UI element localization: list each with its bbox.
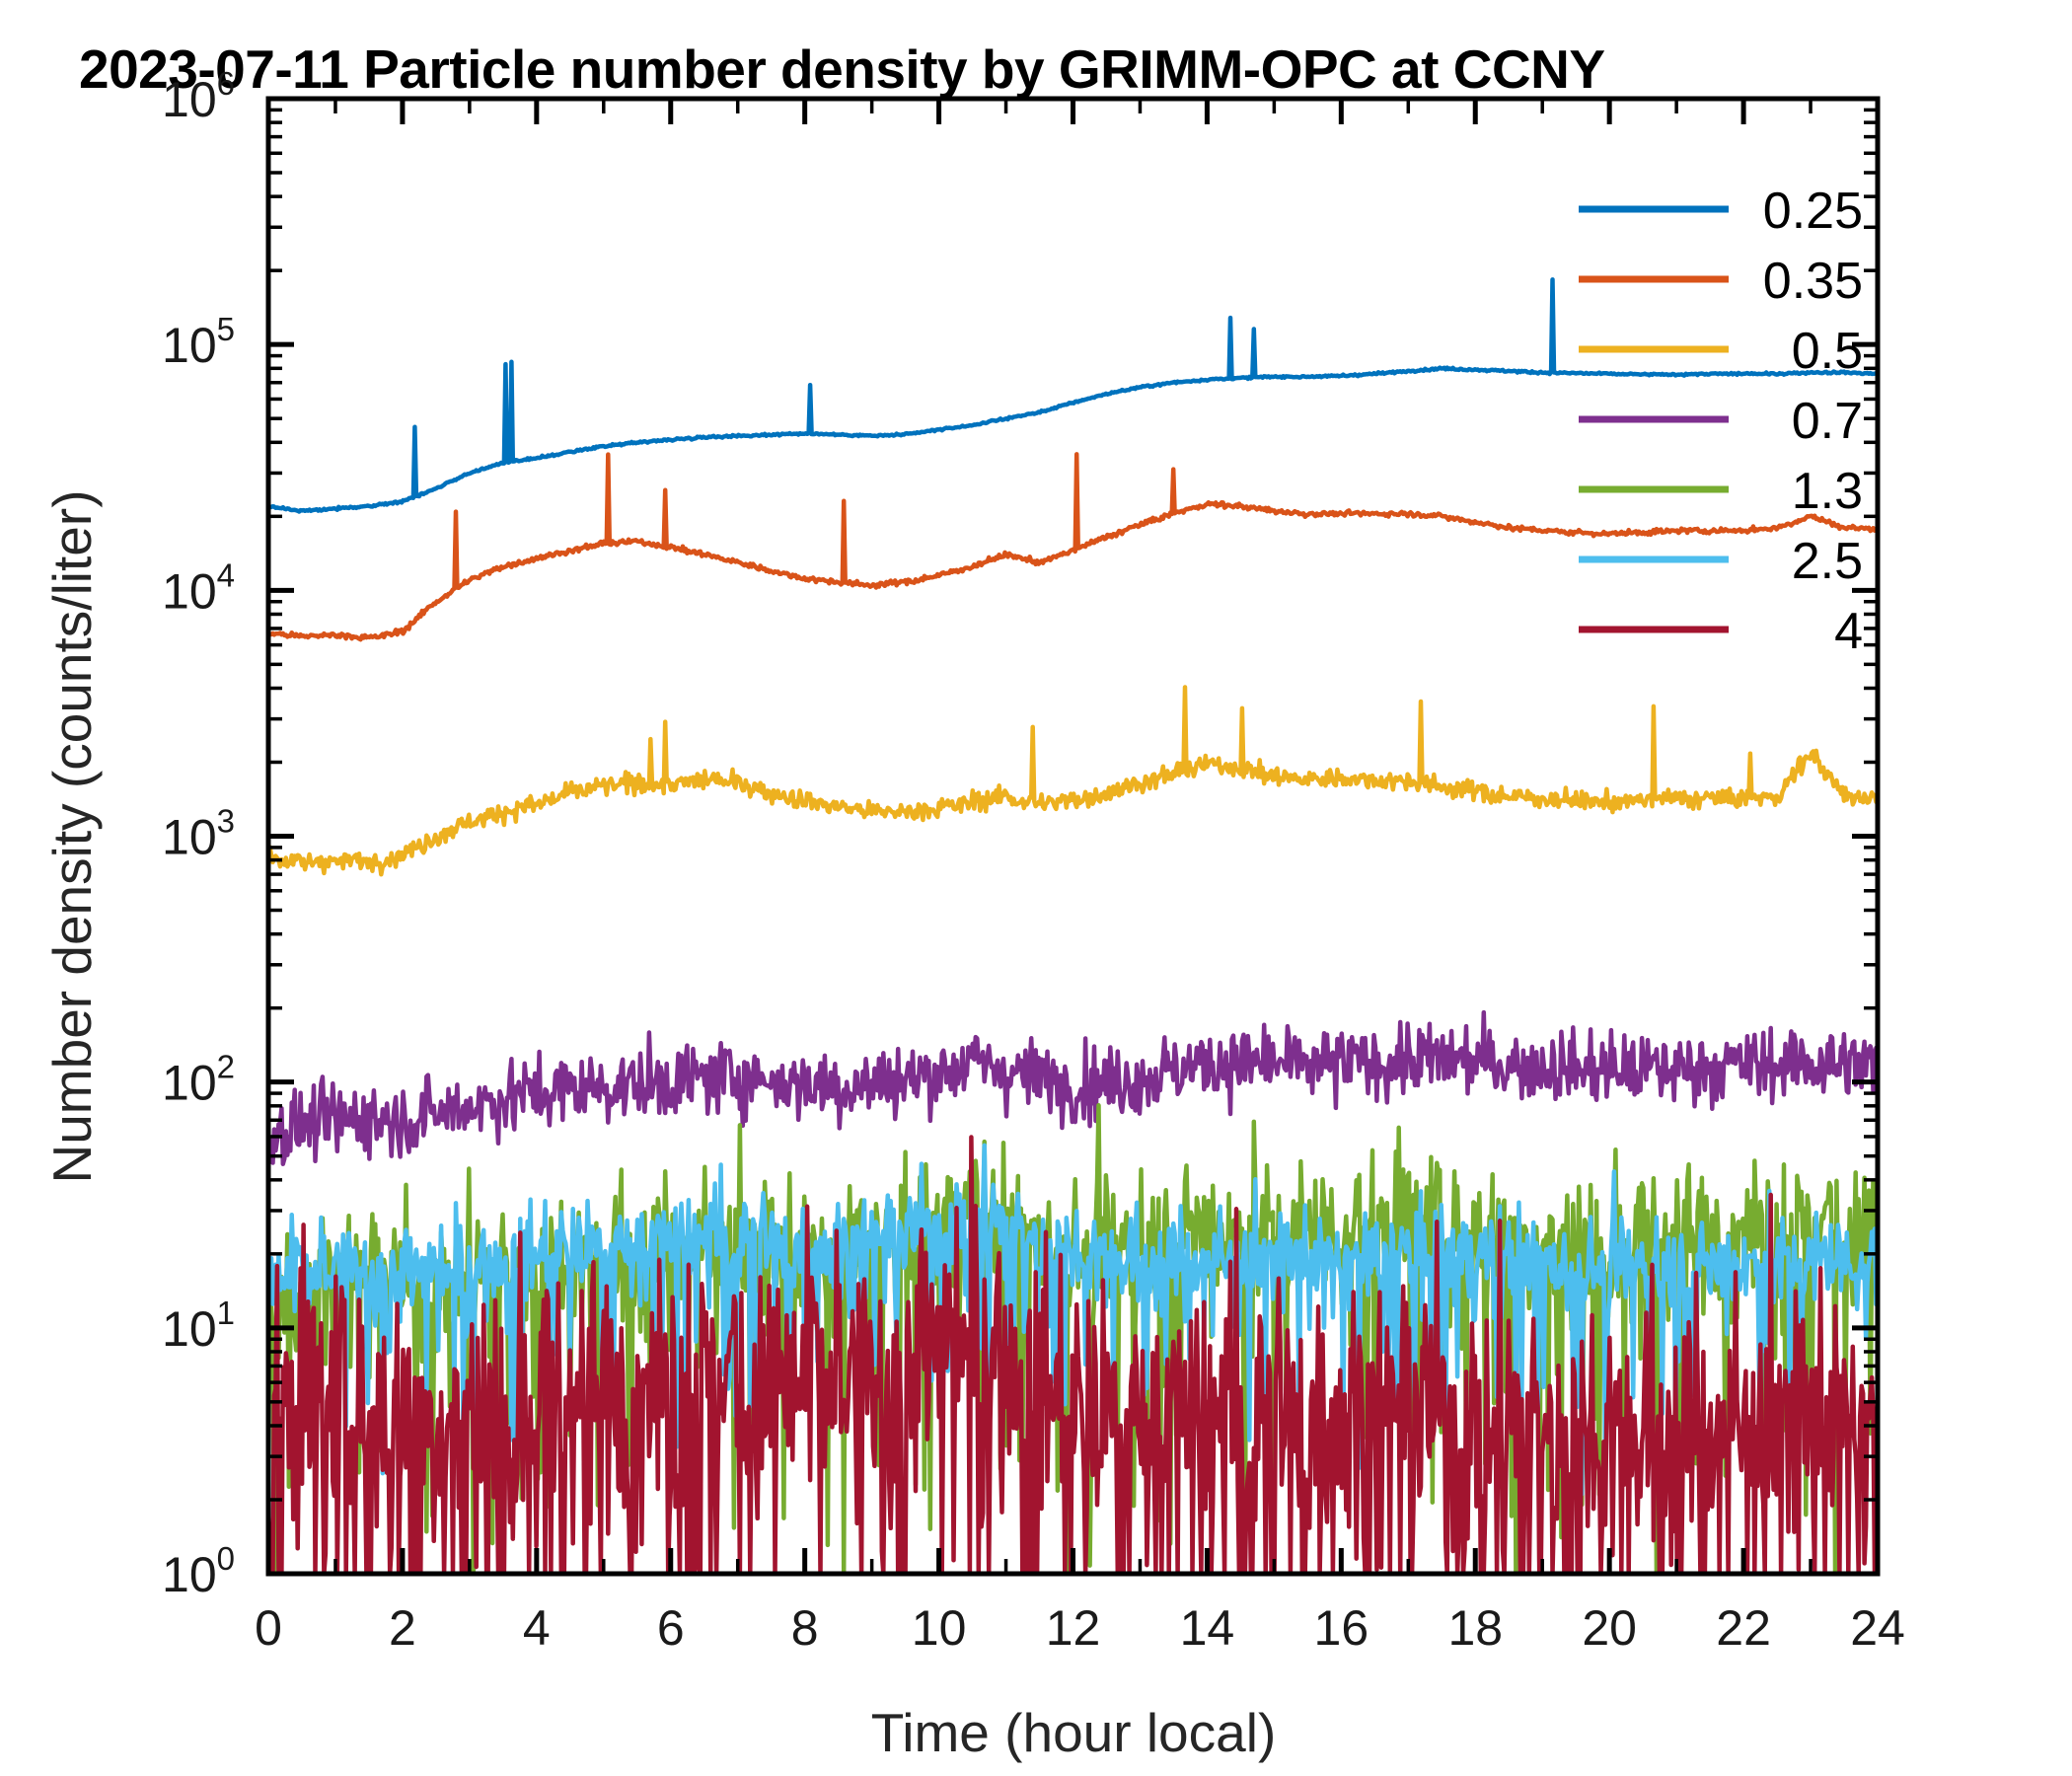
legend-label-2.5[interactable]: 2.5 xyxy=(1792,533,1863,590)
x-axis-title: Time (hour local) xyxy=(871,1702,1277,1763)
x-tick-label: 12 xyxy=(1046,1600,1101,1656)
y-tick-label: 106 xyxy=(162,65,235,127)
legend-label-0.5[interactable]: 0.5 xyxy=(1792,323,1863,380)
series-line-0.35 xyxy=(268,454,1878,639)
x-tick-label: 22 xyxy=(1716,1600,1771,1656)
x-tick-label: 16 xyxy=(1314,1600,1369,1656)
x-tick-label: 24 xyxy=(1850,1600,1905,1656)
series-layer xyxy=(268,279,1878,1574)
series-line-0.7 xyxy=(268,1012,1878,1164)
plot-canvas: 1001011021031041051060246810121416182022… xyxy=(0,0,2072,1776)
legend-label-1.3[interactable]: 1.3 xyxy=(1792,463,1863,520)
x-tick-label: 8 xyxy=(791,1600,819,1656)
y-tick-label: 100 xyxy=(162,1540,235,1602)
y-tick-label: 101 xyxy=(162,1295,235,1357)
legend-label-0.7[interactable]: 0.7 xyxy=(1792,393,1863,450)
y-tick-label: 103 xyxy=(162,803,235,865)
chart-legend: 0.250.350.50.71.32.54 xyxy=(1579,183,1863,660)
series-line-0.5 xyxy=(268,688,1878,875)
y-tick-label: 102 xyxy=(162,1049,235,1111)
x-tick-label: 18 xyxy=(1447,1600,1503,1656)
x-tick-label: 2 xyxy=(389,1600,416,1656)
y-axis-title: Number density (counts/liter) xyxy=(41,489,103,1183)
x-tick-label: 14 xyxy=(1180,1600,1235,1656)
x-tick-label: 20 xyxy=(1582,1600,1637,1656)
x-tick-label: 0 xyxy=(255,1600,282,1656)
legend-label-0.25[interactable]: 0.25 xyxy=(1763,183,1863,240)
x-tick-label: 4 xyxy=(523,1600,551,1656)
legend-label-0.35[interactable]: 0.35 xyxy=(1763,253,1863,310)
y-tick-label: 105 xyxy=(162,311,235,373)
series-line-0.25 xyxy=(268,279,1878,511)
y-tick-label: 104 xyxy=(162,556,235,619)
x-tick-label: 10 xyxy=(912,1600,967,1656)
x-tick-label: 6 xyxy=(657,1600,685,1656)
legend-label-4[interactable]: 4 xyxy=(1834,603,1863,660)
chart-figure: 2023-07-11 Particle number density by GR… xyxy=(0,0,2072,1776)
